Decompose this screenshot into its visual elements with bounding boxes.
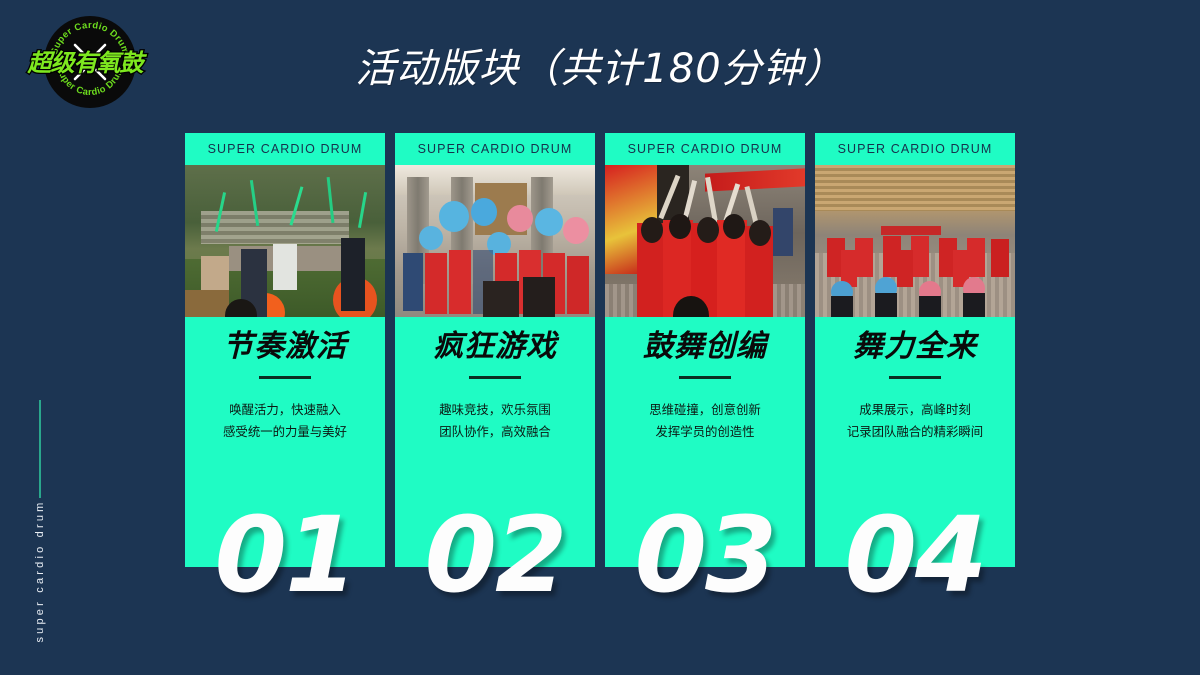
slide-root: Super Cardio Drum Super Cardio Drum 超级有氧… (0, 0, 1200, 675)
activity-card-2[interactable]: SUPER CARDIO DRUM (395, 133, 595, 567)
card-text-block: 节奏激活 唤醒活力，快速融入 感受统一的力量与美好 (185, 317, 385, 442)
card-desc-line-2: 感受统一的力量与美好 (185, 421, 385, 443)
card-text-block: 鼓舞创编 思维碰撞，创意创新 发挥学员的创造性 (605, 317, 805, 442)
card-divider (889, 376, 941, 379)
card-photo-outdoor-park (185, 165, 385, 317)
card-number: 04 (815, 503, 1015, 607)
card-number: 02 (395, 503, 595, 607)
card-header-label: SUPER CARDIO DRUM (185, 133, 385, 165)
card-text-block: 疯狂游戏 趣味竞技，欢乐氛围 团队协作，高效融合 (395, 317, 595, 442)
card-description: 趣味竞技，欢乐氛围 团队协作，高效融合 (395, 399, 595, 442)
card-description: 思维碰撞，创意创新 发挥学员的创造性 (605, 399, 805, 442)
card-divider (679, 376, 731, 379)
card-desc-line-1: 唤醒活力，快速融入 (185, 399, 385, 421)
card-title: 疯狂游戏 (395, 330, 595, 363)
card-desc-line-1: 趣味竞技，欢乐氛围 (395, 399, 595, 421)
card-divider (259, 376, 311, 379)
activity-card-4[interactable]: SUPER CARDIO DRUM (815, 133, 1015, 567)
activity-card-1[interactable]: SUPER CARDIO DRUM (185, 133, 385, 567)
card-photo-grand-hall (815, 165, 1015, 317)
card-desc-line-1: 成果展示，高峰时刻 (815, 399, 1015, 421)
card-header-label: SUPER CARDIO DRUM (395, 133, 595, 165)
card-text-block: 舞力全来 成果展示，高峰时刻 记录团队融合的精彩瞬间 (815, 317, 1015, 442)
card-desc-line-1: 思维碰撞，创意创新 (605, 399, 805, 421)
card-title: 舞力全来 (815, 330, 1015, 363)
card-desc-line-2: 团队协作，高效融合 (395, 421, 595, 443)
card-number: 03 (605, 503, 805, 607)
card-header-label: SUPER CARDIO DRUM (815, 133, 1015, 165)
card-title: 鼓舞创编 (605, 330, 805, 363)
card-divider (469, 376, 521, 379)
rail-divider (39, 400, 41, 498)
card-title: 节奏激活 (185, 330, 385, 363)
card-photo-indoor-balloons (395, 165, 595, 317)
card-number: 01 (185, 503, 385, 607)
card-grid: SUPER CARDIO DRUM (185, 133, 1025, 613)
rail-brand-label: super cardio drum (34, 491, 46, 651)
card-description: 成果展示，高峰时刻 记录团队融合的精彩瞬间 (815, 399, 1015, 442)
card-header-label: SUPER CARDIO DRUM (605, 133, 805, 165)
card-description: 唤醒活力，快速融入 感受统一的力量与美好 (185, 399, 385, 442)
card-desc-line-2: 发挥学员的创造性 (605, 421, 805, 443)
card-photo-red-team-drumsticks (605, 165, 805, 317)
activity-card-3[interactable]: SUPER CARDIO DRUM (605, 133, 805, 567)
card-desc-line-2: 记录团队融合的精彩瞬间 (815, 421, 1015, 443)
page-title: 活动版块（共计180分钟） (0, 36, 1200, 94)
